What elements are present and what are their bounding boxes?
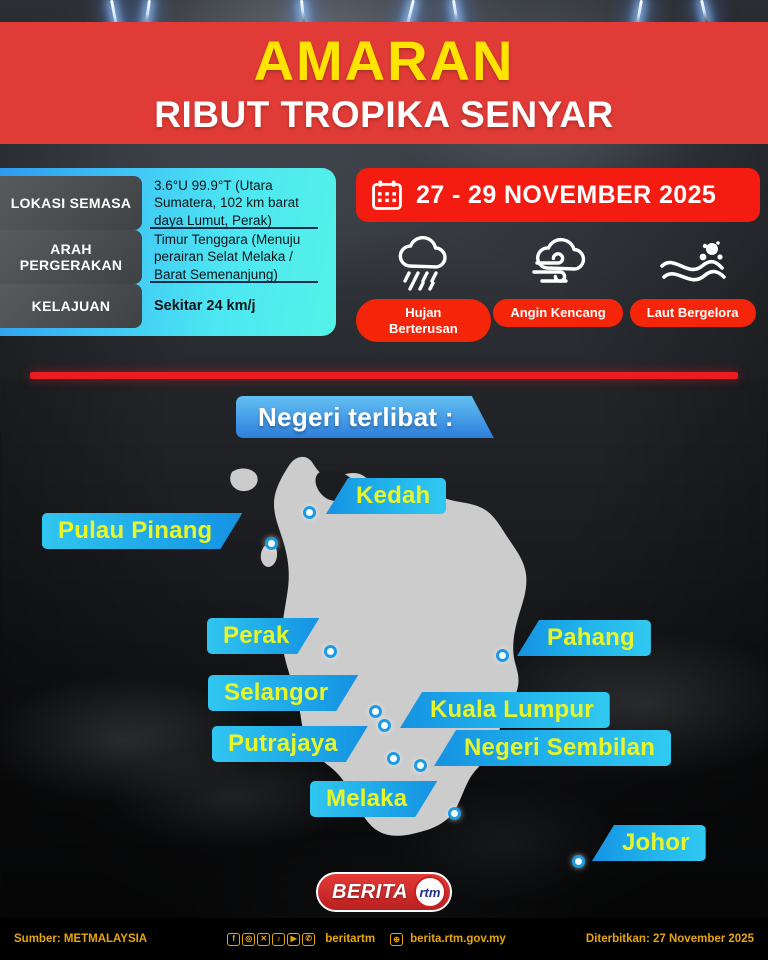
page-subtitle: RIBUT TROPIKA SENYAR (154, 96, 614, 133)
date-range-text: 27 - 29 NOVEMBER 2025 (416, 181, 716, 210)
globe-icon: ⊕ (390, 933, 403, 946)
map-label-kuala-lumpur: Kuala Lumpur (400, 692, 610, 728)
map-dot-pahang (496, 649, 509, 662)
hazard-row: Hujan Berterusan Angin Kencang (356, 234, 760, 342)
tiktok-icon[interactable]: ♪ (272, 933, 285, 946)
calendar-icon (370, 178, 404, 212)
map-label-selangor: Selangor (208, 675, 358, 711)
info-row: ARAH PERGERAKAN Timur Tenggara (Menuju p… (0, 230, 326, 284)
rough-sea-waves-icon (658, 234, 728, 292)
map-dot-perak (324, 645, 337, 658)
date-hazard-panel: 27 - 29 NOVEMBER 2025 Hujan Berterusan (356, 168, 760, 342)
berita-wordmark: BERITA (332, 881, 408, 904)
states-involved-title: Negeri terlibat : (258, 402, 454, 433)
x-twitter-icon[interactable]: ✕ (257, 933, 270, 946)
header-banner: AMARAN RIBUT TROPIKA SENYAR (0, 22, 768, 144)
info-value-arah: Timur Tenggara (Menuju perairan Selat Me… (142, 230, 326, 284)
youtube-icon[interactable]: ▶ (287, 933, 300, 946)
info-label-arah: ARAH PERGERAKAN (0, 230, 142, 284)
rtm-badge-icon: rtm (414, 876, 446, 908)
footer-website[interactable]: berita.rtm.gov.my (410, 933, 506, 945)
page-title: AMARAN (254, 33, 515, 89)
map-dot-negeri-sembilan (414, 759, 427, 772)
section-divider (30, 372, 738, 379)
footer-published: Diterbitkan: 27 November 2025 (586, 933, 754, 945)
berita-rtm-logo: BERITA rtm (316, 872, 452, 912)
date-range-pill: 27 - 29 NOVEMBER 2025 (356, 168, 760, 222)
states-involved-banner: Negeri terlibat : (236, 396, 494, 438)
info-row: LOKASI SEMASA 3.6°U 99.9°T (Utara Sumate… (0, 176, 326, 230)
wind-cloud-icon (525, 234, 591, 292)
map-dot-putrajaya (387, 752, 400, 765)
instagram-icon[interactable]: ◎ (242, 933, 255, 946)
info-value-lokasi: 3.6°U 99.9°T (Utara Sumatera, 102 km bar… (142, 176, 326, 230)
map-label-pulau-pinang: Pulau Pinang (42, 513, 242, 549)
map-label-melaka: Melaka (310, 781, 437, 817)
info-value-kelajuan: Sekitar 24 km/j (142, 284, 326, 328)
hazard-item-sea: Laut Bergelora (625, 234, 760, 342)
info-row: KELAJUAN Sekitar 24 km/j (0, 284, 326, 328)
social-icons-group: f ◎ ✕ ♪ ▶ ✆ (227, 933, 315, 946)
facebook-icon[interactable]: f (227, 933, 240, 946)
map-dot-pulau-pinang (265, 537, 278, 550)
storm-info-panel: LOKASI SEMASA 3.6°U 99.9°T (Utara Sumate… (0, 168, 336, 336)
whatsapp-icon[interactable]: ✆ (302, 933, 315, 946)
footer-source: Sumber: METMALAYSIA (14, 933, 147, 945)
info-label-lokasi: LOKASI SEMASA (0, 176, 142, 230)
hazard-item-rain: Hujan Berterusan (356, 234, 491, 342)
hazard-label-rain: Hujan Berterusan (356, 299, 491, 342)
hazard-label-sea: Laut Bergelora (630, 299, 756, 327)
map-dot-melaka (448, 807, 461, 820)
map-dot-kedah (303, 506, 316, 519)
info-label-kelajuan: KELAJUAN (0, 284, 142, 328)
map-label-pahang: Pahang (517, 620, 651, 656)
map-dot-kuala-lumpur (378, 719, 391, 732)
map-label-putrajaya: Putrajaya (212, 726, 368, 762)
map-dot-selangor (369, 705, 382, 718)
rain-cloud-icon (392, 234, 454, 292)
hazard-item-wind: Angin Kencang (491, 234, 626, 342)
footer-social-block: f ◎ ✕ ♪ ▶ ✆ beritartm ⊕ berita.rtm.gov.m… (147, 933, 586, 946)
social-handle: beritartm (325, 933, 375, 945)
hazard-label-wind: Angin Kencang (493, 299, 622, 327)
map-dot-johor (572, 855, 585, 868)
map-label-negeri-sembilan: Negeri Sembilan (434, 730, 671, 766)
footer-bar: Sumber: METMALAYSIA f ◎ ✕ ♪ ▶ ✆ beritart… (0, 918, 768, 960)
